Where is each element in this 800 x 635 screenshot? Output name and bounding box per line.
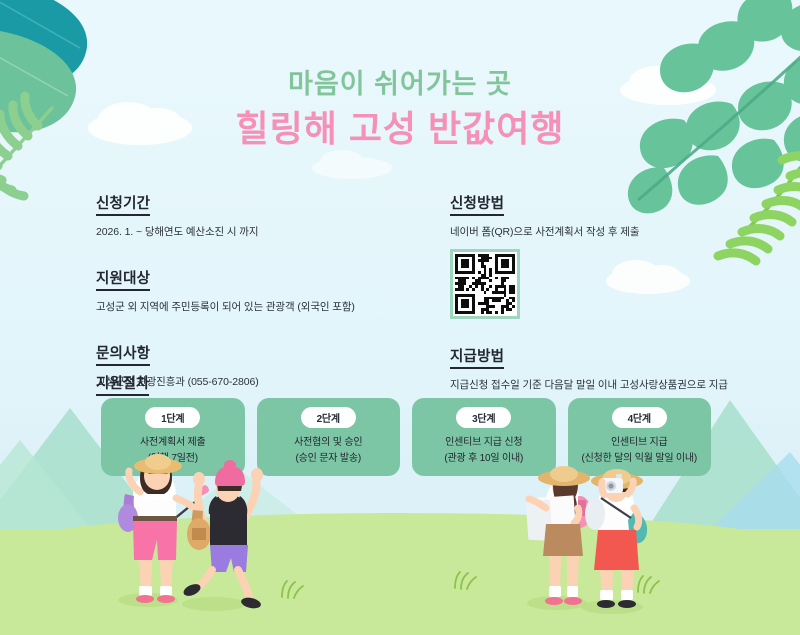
step-card: 2단계사전협의 및 승인(승인 문자 발송) xyxy=(257,398,401,476)
step-badge: 3단계 xyxy=(456,407,511,428)
steps-row: 1단계사전계획서 제출(여행 7일전)2단계사전협의 및 승인(승인 문자 발송… xyxy=(101,398,711,476)
grass-band xyxy=(0,529,800,635)
step-line-primary: 인센티브 지급 xyxy=(611,435,668,451)
info-column-right: 신청방법 네이버 폼(QR)으로 사전계획서 작성 후 제출 지급방법 지급신청… xyxy=(450,192,780,414)
info-block-payment-method: 지급방법 지급신청 접수일 기준 다음달 말일 이내 고성사랑상품권으로 지급 xyxy=(450,345,780,394)
info-block-how-to-apply: 신청방법 네이버 폼(QR)으로 사전계획서 작성 후 제출 xyxy=(450,192,780,319)
step-line-primary: 인센티브 지급 신청 xyxy=(445,435,522,451)
step-badge: 4단계 xyxy=(612,407,667,428)
info-body: 2026. 1. ~ 당해연도 예산소진 시 까지 xyxy=(96,225,426,241)
step-badge: 1단계 xyxy=(145,407,200,428)
branch-stem xyxy=(638,0,800,200)
info-heading: 지급방법 xyxy=(450,345,504,369)
info-block-eligibility: 지원대상 고성군 외 지역에 주민등록이 되어 있는 관광객 (외국인 포함) xyxy=(96,267,426,316)
info-body: 고성군 외 지역에 주민등록이 되어 있는 관광객 (외국인 포함) xyxy=(96,300,426,316)
info-block-application-period: 신청기간 2026. 1. ~ 당해연도 예산소진 시 까지 xyxy=(96,192,426,241)
info-body: 지급신청 접수일 기준 다음달 말일 이내 고성사랑상품권으로 지급 xyxy=(450,378,780,394)
qr-code[interactable] xyxy=(450,249,520,319)
poster-subtitle: 마음이 쉬어가는 곳 xyxy=(0,70,800,100)
info-heading: 지원대상 xyxy=(96,267,150,291)
step-line-primary: 사전계획서 제출 xyxy=(140,435,206,451)
step-line-secondary: (관광 후 10일 이내) xyxy=(444,451,523,467)
step-line-secondary: (여행 7일전) xyxy=(148,451,198,467)
poster-canvas: 마음이 쉬어가는 곳 힐링해 고성 반값여행 신청기간 2026. 1. ~ 당… xyxy=(0,0,800,635)
branch-leaves-icon xyxy=(628,0,800,213)
step-card: 1단계사전계획서 제출(여행 7일전) xyxy=(101,398,245,476)
info-body: 네이버 폼(QR)으로 사전계획서 작성 후 제출 xyxy=(450,225,780,241)
step-line-secondary: (승인 문자 발송) xyxy=(296,451,361,467)
step-card: 3단계인센티브 지급 신청(관광 후 10일 이내) xyxy=(412,398,556,476)
info-heading: 신청방법 xyxy=(450,192,504,216)
info-heading: 문의사항 xyxy=(96,342,150,366)
step-card: 4단계인센티브 지급(신청한 달의 익월 말일 이내) xyxy=(568,398,712,476)
steps-heading: 지원절차 xyxy=(96,372,149,396)
info-heading: 신청기간 xyxy=(96,192,150,216)
step-line-primary: 사전협의 및 승인 xyxy=(294,435,362,451)
qr-code-matrix xyxy=(455,254,515,314)
cloud-icon xyxy=(312,150,392,179)
step-badge: 2단계 xyxy=(301,407,356,428)
poster-main-title: 힐링해 고성 반값여행 xyxy=(0,108,800,149)
step-line-secondary: (신청한 달의 익월 말일 이내) xyxy=(581,451,697,467)
